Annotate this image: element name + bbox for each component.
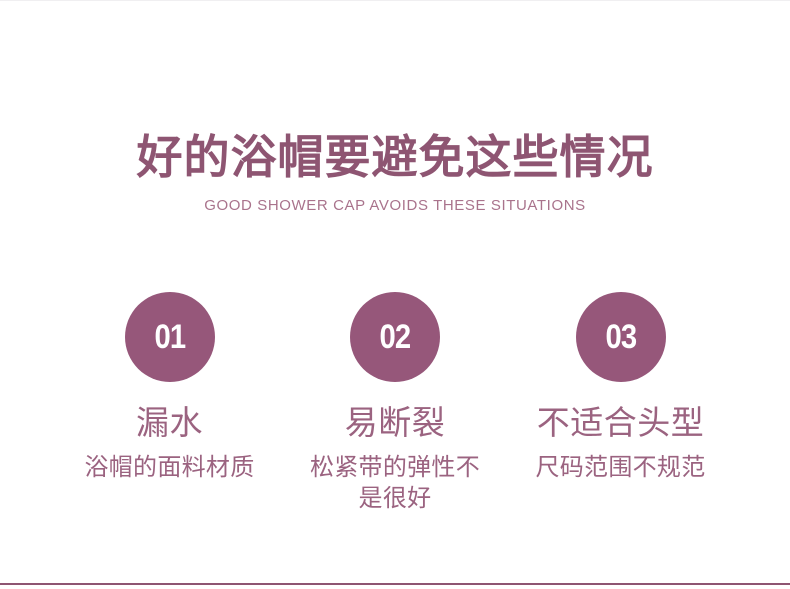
feature-columns: 01 漏水 浴帽的面料材质 02 易断裂 松紧带的弹性不是很好 03 不适合头型…	[57, 292, 733, 514]
promo-banner: 好的浴帽要避免这些情况 GOOD SHOWER CAP AVOIDS THESE…	[0, 0, 790, 589]
feature-item-02: 02 易断裂 松紧带的弹性不是很好	[283, 292, 508, 514]
number-badge-03: 03	[576, 292, 666, 382]
feature-item-01: 01 漏水 浴帽的面料材质	[57, 292, 282, 483]
badge-number-label: 03	[605, 320, 636, 354]
page-title: 好的浴帽要避免这些情况	[0, 128, 790, 186]
header-block: 好的浴帽要避免这些情况 GOOD SHOWER CAP AVOIDS THESE…	[0, 128, 790, 216]
feature-description-02: 松紧带的弹性不是很好	[300, 452, 490, 514]
feature-title-03: 不适合头型	[537, 404, 705, 442]
bottom-divider	[0, 583, 790, 585]
badge-number-label: 01	[154, 320, 185, 354]
feature-description-01: 浴帽的面料材质	[75, 452, 265, 483]
feature-title-02: 易断裂	[345, 404, 446, 442]
feature-title-01: 漏水	[136, 404, 203, 442]
number-badge-01: 01	[125, 292, 215, 382]
feature-description-03: 尺码范围不规范	[526, 452, 716, 483]
feature-item-03: 03 不适合头型 尺码范围不规范	[508, 292, 733, 483]
top-divider	[0, 0, 790, 1]
page-subtitle: GOOD SHOWER CAP AVOIDS THESE SITUATIONS	[0, 196, 790, 216]
badge-number-label: 02	[380, 320, 411, 354]
number-badge-02: 02	[350, 292, 440, 382]
